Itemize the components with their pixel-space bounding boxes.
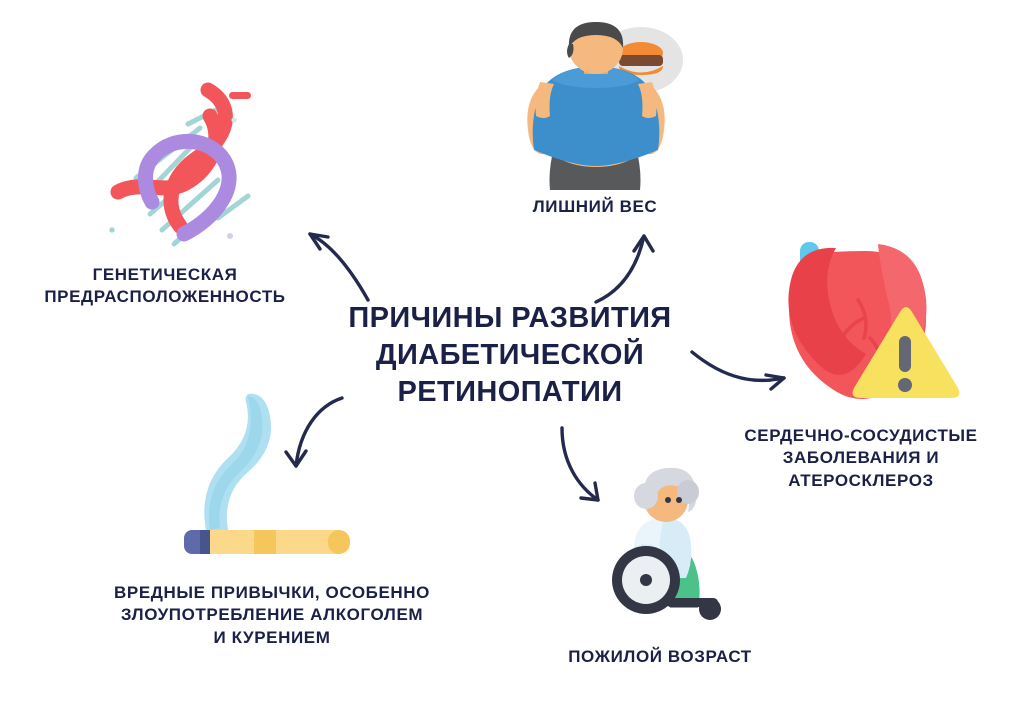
arrow-to-cardiovascular bbox=[692, 352, 784, 389]
label-elderly: ПОЖИЛОЙ ВОЗРАСТ bbox=[520, 646, 800, 668]
label-habits: ВРЕДНЫЕ ПРИВЫЧКИ, ОСОБЕННО ЗЛОУПОТРЕБЛЕН… bbox=[62, 582, 482, 649]
heart-warning-icon bbox=[778, 230, 968, 415]
cigarette-smoke-svg bbox=[148, 378, 358, 573]
overweight-person-svg bbox=[508, 22, 688, 192]
dna-helix-svg bbox=[88, 68, 268, 248]
arrow-to-overweight bbox=[596, 236, 653, 302]
label-genetics: ГЕНЕТИЧЕСКАЯ ПРЕДРАСПОЛОЖЕННОСТЬ bbox=[0, 264, 340, 309]
label-cardiovascular: СЕРДЕЧНО-СОСУДИСТЫЕ ЗАБОЛЕВАНИЯ И АТЕРОС… bbox=[698, 425, 1024, 492]
wheelchair-elder-svg bbox=[592, 466, 732, 626]
heart-warning-svg bbox=[778, 230, 968, 415]
wheelchair-elder-icon bbox=[592, 466, 732, 626]
overweight-person-icon bbox=[508, 22, 688, 192]
page-title: ПРИЧИНЫ РАЗВИТИЯ ДИАБЕТИЧЕСКОЙ РЕТИНОПАТ… bbox=[330, 300, 690, 411]
cigarette-smoke-icon bbox=[148, 378, 358, 573]
dna-helix-icon bbox=[88, 68, 268, 248]
label-overweight: ЛИШНИЙ ВЕС bbox=[480, 196, 710, 218]
infographic-canvas: ГЕНЕТИЧЕСКАЯ ПРЕДРАСПОЛОЖЕННОСТЬ bbox=[0, 0, 1024, 723]
